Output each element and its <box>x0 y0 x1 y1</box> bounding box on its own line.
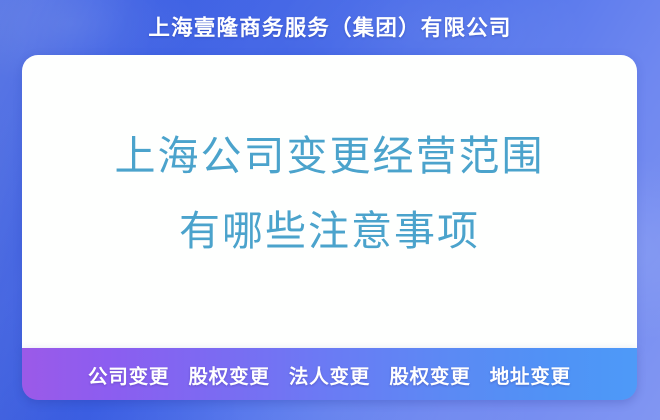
headline-line-1: 上海公司变更经营范围 <box>115 119 545 194</box>
headline-line-2: 有哪些注意事项 <box>115 194 545 269</box>
content-card: 上海公司变更经营范围 有哪些注意事项 <box>22 55 637 348</box>
tag-list: 公司变更 股权变更 法人变更 股权变更 地址变更 <box>88 360 571 389</box>
tag-item[interactable]: 股权变更 <box>389 366 470 388</box>
headline: 上海公司变更经营范围 有哪些注意事项 <box>115 119 545 285</box>
tag-item[interactable]: 法人变更 <box>289 366 370 388</box>
company-name-header: 上海壹隆商务服务（集团）有限公司 <box>0 13 660 43</box>
tag-item[interactable]: 公司变更 <box>88 366 169 388</box>
poster-canvas: 上海壹隆商务服务（集团）有限公司 上海公司变更经营范围 有哪些注意事项 公司变更… <box>0 0 660 420</box>
tag-item[interactable]: 股权变更 <box>188 366 269 388</box>
tag-bar: 公司变更 股权变更 法人变更 股权变更 地址变更 <box>22 348 637 400</box>
tag-item[interactable]: 地址变更 <box>490 366 571 388</box>
